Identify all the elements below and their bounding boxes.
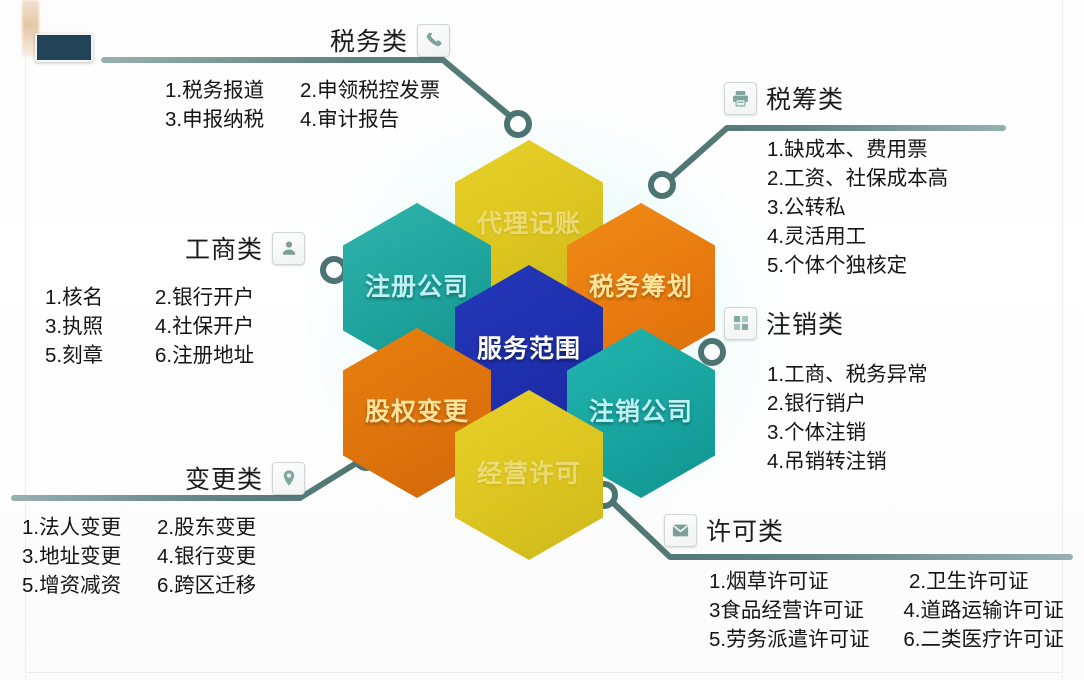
list-item: 5.个体个独核定 <box>767 251 1064 280</box>
category-business-header: 工商类 <box>40 230 305 266</box>
list-item: 4.灵活用工 <box>767 222 1064 251</box>
list-item: 5.劳务派遣许可证 6.二类医疗许可证 <box>709 625 1064 654</box>
list-item: 1.工商、税务异常 <box>767 360 1064 389</box>
hex-cancel-label: 注销公司 <box>589 399 693 427</box>
list-item: 2.工资、社保成本高 <box>767 164 1064 193</box>
hex-equity-label: 股权变更 <box>365 399 469 427</box>
category-change[interactable]: 变更类 1.法人变更 2.股东变更 3.地址变更 4.银行变更 5.增资减资 6… <box>40 460 305 600</box>
category-tax-header: 税务类 <box>140 22 450 58</box>
list-item: 5.增资减资 6.跨区迁移 <box>22 571 305 600</box>
category-cancellation[interactable]: 注销类 1.工商、税务异常 2.银行销户 3.个体注销 4.吊销转注销 <box>724 305 1064 476</box>
category-business-list: 1.核名 2.银行开户 3.执照 4.社保开户 5.刻章 6.注册地址 <box>45 283 305 370</box>
hex-license-label: 经营许可 <box>477 461 581 489</box>
category-tax-planning[interactable]: 税筹类 1.缺成本、费用票 2.工资、社保成本高 3.公转私 4.灵活用工 5.… <box>724 80 1064 281</box>
category-change-title: 变更类 <box>185 460 263 496</box>
category-change-header: 变更类 <box>40 460 305 496</box>
map-pin-icon <box>272 462 305 495</box>
hex-tax-plan-label: 税务筹划 <box>589 274 693 302</box>
hex-bookkeeping-label: 代理记账 <box>477 211 581 239</box>
list-item: 1.法人变更 2.股东变更 <box>22 513 305 542</box>
category-permit-title: 许可类 <box>706 512 784 548</box>
printer-icon <box>724 82 757 115</box>
list-item: 4.吊销转注销 <box>767 447 1064 476</box>
category-tax-planning-list: 1.缺成本、费用票 2.工资、社保成本高 3.公转私 4.灵活用工 5.个体个独… <box>767 135 1064 281</box>
category-cancellation-title: 注销类 <box>766 305 844 341</box>
hex-center-label: 服务范围 <box>477 336 581 364</box>
list-item: 1.税务报道 2.申领税控发票 <box>165 76 450 105</box>
mail-icon <box>664 514 697 547</box>
hex-register-label: 注册公司 <box>365 274 469 302</box>
phone-icon <box>417 24 450 57</box>
category-permit-list: 1.烟草许可证 2.卫生许可证 3食品经营许可证 4.道路运输许可证 5.劳务派… <box>709 567 1064 654</box>
category-tax-title: 税务类 <box>330 22 408 58</box>
list-item: 3.公转私 <box>767 193 1064 222</box>
list-item: 3.申报纳税 4.审计报告 <box>165 105 450 134</box>
list-item: 3.个体注销 <box>767 418 1064 447</box>
category-tax-planning-header: 税筹类 <box>724 80 1064 116</box>
category-tax[interactable]: 税务类 1.税务报道 2.申领税控发票 3.申报纳税 4.审计报告 <box>140 22 450 134</box>
category-permit[interactable]: 许可类 1.烟草许可证 2.卫生许可证 3食品经营许可证 4.道路运输许可证 5… <box>664 512 1064 654</box>
category-cancellation-header: 注销类 <box>724 305 1064 341</box>
list-item: 3食品经营许可证 4.道路运输许可证 <box>709 596 1064 625</box>
category-permit-header: 许可类 <box>664 512 1064 548</box>
list-item: 3.执照 4.社保开户 <box>45 312 305 341</box>
list-item: 5.刻章 6.注册地址 <box>45 341 305 370</box>
list-item: 2.银行销户 <box>767 389 1064 418</box>
grid-icon <box>724 307 757 340</box>
category-business-title: 工商类 <box>185 230 263 266</box>
list-item: 1.缺成本、费用票 <box>767 135 1064 164</box>
user-icon <box>272 232 305 265</box>
category-cancellation-list: 1.工商、税务异常 2.银行销户 3.个体注销 4.吊销转注销 <box>767 360 1064 476</box>
infographic-canvas: 代理记账 注册公司 税务筹划 服务范围 股权变更 注销公司 经营许可 税务类 1… <box>0 0 1084 680</box>
category-business[interactable]: 工商类 1.核名 2.银行开户 3.执照 4.社保开户 5.刻章 6.注册地址 <box>40 230 305 370</box>
category-tax-list: 1.税务报道 2.申领税控发票 3.申报纳税 4.审计报告 <box>165 76 450 134</box>
category-change-list: 1.法人变更 2.股东变更 3.地址变更 4.银行变更 5.增资减资 6.跨区迁… <box>22 513 305 600</box>
list-item: 1.烟草许可证 2.卫生许可证 <box>709 567 1064 596</box>
list-item: 1.核名 2.银行开户 <box>45 283 305 312</box>
category-tax-planning-title: 税筹类 <box>766 80 844 116</box>
list-item: 3.地址变更 4.银行变更 <box>22 542 305 571</box>
